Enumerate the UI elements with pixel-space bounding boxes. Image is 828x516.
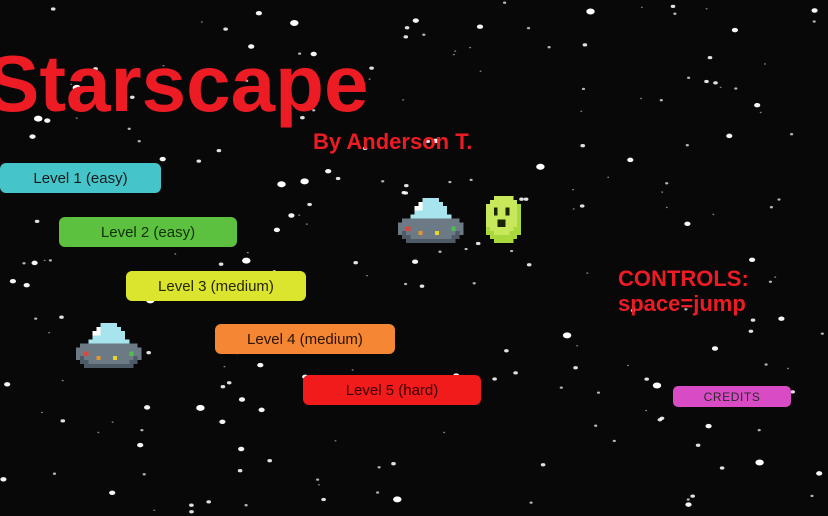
level-3-button[interactable]: Level 3 (medium) xyxy=(126,271,306,301)
level-4-label: Level 4 (medium) xyxy=(247,331,363,348)
level-5-button[interactable]: Level 5 (hard) xyxy=(303,375,481,405)
level-2-button[interactable]: Level 2 (easy) xyxy=(59,217,237,247)
level-5-label: Level 5 (hard) xyxy=(346,382,439,399)
alien-green xyxy=(486,196,521,248)
ufo-ship-lower xyxy=(76,323,142,373)
controls-binding: space=jump xyxy=(618,291,749,316)
page-title: Starscape xyxy=(0,44,368,124)
credits-button[interactable]: CREDITS xyxy=(673,386,791,407)
ufo-ship-upper xyxy=(398,198,464,248)
author-subtitle: By Anderson T. xyxy=(313,129,472,155)
controls-heading: CONTROLS: xyxy=(618,266,749,291)
level-3-label: Level 3 (medium) xyxy=(158,278,274,295)
game-title-screen: Starscape By Anderson T. Level 1 (easy) … xyxy=(0,0,828,516)
controls-help-text: CONTROLS: space=jump xyxy=(618,266,749,316)
level-4-button[interactable]: Level 4 (medium) xyxy=(215,324,395,354)
level-1-label: Level 1 (easy) xyxy=(33,170,127,187)
credits-label: CREDITS xyxy=(704,390,761,404)
level-2-label: Level 2 (easy) xyxy=(101,224,195,241)
level-1-button[interactable]: Level 1 (easy) xyxy=(0,163,161,193)
